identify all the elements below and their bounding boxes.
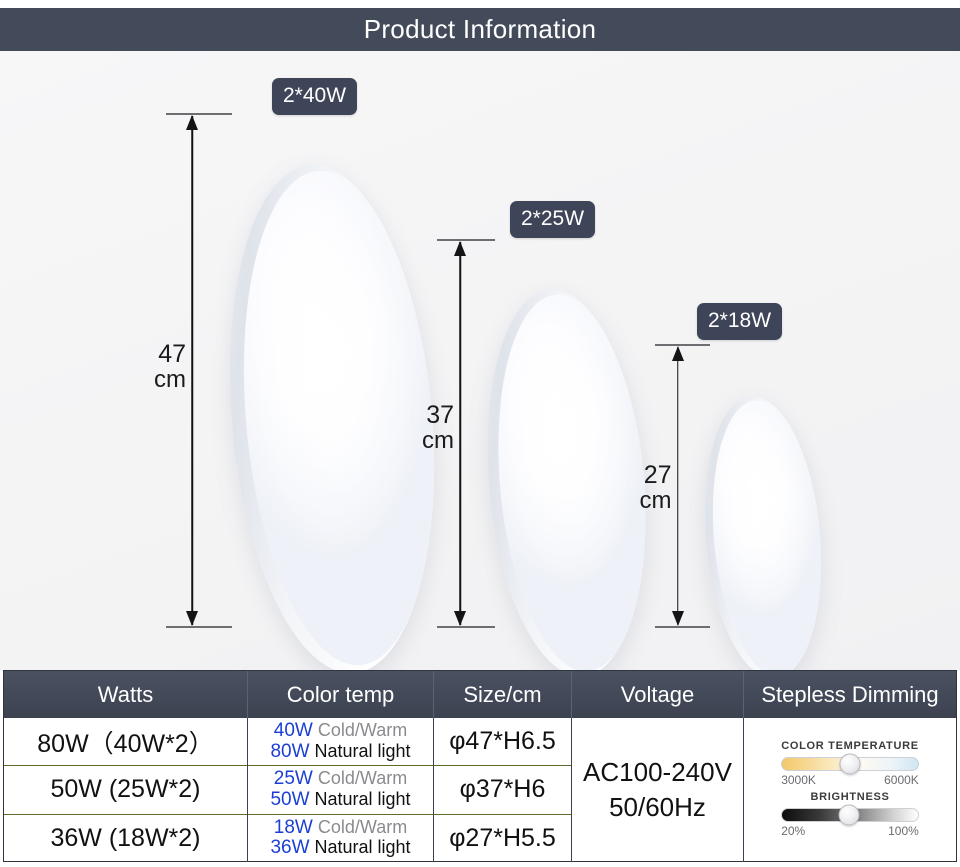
dimension-arrow-down-icon <box>454 611 466 626</box>
dimension-label-small: 27 cm <box>640 462 672 514</box>
cell-dimming: COLOR TEMPERATURE 3000K 6000K BRIGHTNESS <box>744 718 956 862</box>
dimension-value: 27 <box>644 461 672 489</box>
brightness-slider-handle[interactable] <box>838 804 859 825</box>
column-header-stepless-dimming: Stepless Dimming <box>744 671 956 718</box>
color-temperature-title: COLOR TEMPERATURE <box>781 740 919 752</box>
dimension-marker-large: 47 cm <box>152 113 232 628</box>
color-temp-natural: 50W Natural light <box>270 790 410 811</box>
color-temp-natural: 80W Natural light <box>270 742 410 763</box>
dimension-tick-bottom <box>655 626 710 628</box>
lamp-small <box>706 396 820 670</box>
table-row: 50W (25W*2) <box>4 766 247 814</box>
dimension-label-large: 47 cm <box>154 341 186 393</box>
table-row: 40W Cold/Warm 80W Natural light <box>248 718 433 766</box>
column-watts: 80W（40W*2） 50W (25W*2) 36W (18W*2) <box>4 718 248 862</box>
column-size: φ47*H6.5 φ37*H6 φ27*H5.5 <box>434 718 572 862</box>
color-temp-cold-warm: 18W Cold/Warm <box>274 818 407 839</box>
nl-watts: 36W <box>270 838 309 859</box>
brightness-max-label: 100% <box>888 824 919 838</box>
brightness-slider-group: BRIGHTNESS 20% 100% <box>781 791 919 838</box>
dimension-arrow-up-icon <box>186 115 198 130</box>
dimension-value: 37 <box>426 401 454 429</box>
lamp-medium <box>489 289 644 670</box>
table-row: 36W (18W*2) <box>4 815 247 862</box>
nl-label: Natural light <box>315 790 411 809</box>
column-voltage: AC100-240V 50/60Hz <box>572 718 744 862</box>
dimension-tick-top <box>166 113 232 115</box>
column-color-temp: 40W Cold/Warm 80W Natural light 25W Cold… <box>248 718 434 862</box>
cell-size: φ37*H6 <box>460 775 546 804</box>
table-row: φ47*H6.5 <box>434 718 571 766</box>
dimension-arrow-down-icon <box>672 611 684 626</box>
cw-label: Cold/Warm <box>318 721 407 740</box>
badge-lamp-large: 2*40W <box>272 78 357 115</box>
table-row: 80W（40W*2） <box>4 718 247 766</box>
dimension-unit: cm <box>154 367 186 393</box>
table-row: φ27*H5.5 <box>434 815 571 862</box>
cell-size: φ47*H6.5 <box>449 727 556 756</box>
cw-label: Cold/Warm <box>318 818 407 837</box>
cell-watts: 36W (18W*2) <box>50 824 200 853</box>
nl-watts: 50W <box>270 790 309 811</box>
dimension-tick-top <box>437 239 495 241</box>
dimension-marker-small: 27 cm <box>645 344 710 628</box>
specification-table: Watts Color temp Size/cm Voltage Steples… <box>3 670 957 862</box>
color-temperature-min-label: 3000K <box>781 773 816 787</box>
lamp-large <box>232 164 432 670</box>
color-temp-cold-warm: 40W Cold/Warm <box>274 721 407 742</box>
table-row: 25W Cold/Warm 50W Natural light <box>248 766 433 814</box>
cell-voltage: AC100-240V 50/60Hz <box>572 718 743 862</box>
cell-size: φ27*H5.5 <box>449 824 556 853</box>
dimension-shaft <box>191 116 193 625</box>
dimension-unit: cm <box>422 428 454 454</box>
dimension-shaft <box>459 242 461 625</box>
dimension-unit: cm <box>640 488 672 514</box>
dimension-arrow-down-icon <box>186 611 198 626</box>
dimension-value: 47 <box>158 340 186 368</box>
dimension-tick-bottom <box>166 626 232 628</box>
page-title: Product Information <box>364 14 597 45</box>
cw-watts: 18W <box>274 818 313 839</box>
column-header-voltage: Voltage <box>572 671 744 718</box>
dimension-marker-medium: 37 cm <box>425 239 495 628</box>
cw-label: Cold/Warm <box>318 769 407 788</box>
color-temperature-max-label: 6000K <box>884 773 919 787</box>
brightness-title: BRIGHTNESS <box>781 791 919 803</box>
column-header-color-temp: Color temp <box>248 671 434 718</box>
badge-lamp-medium: 2*25W <box>510 201 595 238</box>
dimension-arrow-up-icon <box>672 346 684 361</box>
badge-lamp-small: 2*18W <box>697 303 782 340</box>
table-body: 80W（40W*2） 50W (25W*2) 36W (18W*2) 40W C… <box>4 718 956 862</box>
table-row: φ37*H6 <box>434 766 571 814</box>
color-temp-natural: 36W Natural light <box>270 838 410 859</box>
dimension-shaft <box>677 347 679 625</box>
color-temperature-slider-handle[interactable] <box>840 753 861 774</box>
column-header-watts: Watts <box>4 671 248 718</box>
cell-watts: 50W (25W*2) <box>50 775 200 804</box>
color-temperature-slider[interactable] <box>781 757 919 771</box>
cw-watts: 25W <box>274 769 313 790</box>
nl-label: Natural light <box>315 838 411 857</box>
product-illustration: 2*40W 2*25W 2*18W 47 cm 37 cm 27 <box>0 51 960 670</box>
dimension-tick-bottom <box>437 626 495 628</box>
color-temp-cold-warm: 25W Cold/Warm <box>274 769 407 790</box>
dimension-arrow-up-icon <box>454 241 466 256</box>
cell-watts: 80W（40W*2） <box>37 724 213 760</box>
voltage-line-1: AC100-240V <box>583 755 732 790</box>
cw-watts: 40W <box>274 721 313 742</box>
column-header-size: Size/cm <box>434 671 572 718</box>
table-header-row: Watts Color temp Size/cm Voltage Steples… <box>4 671 956 718</box>
brightness-slider[interactable] <box>781 808 919 822</box>
nl-label: Natural light <box>315 742 411 761</box>
voltage-line-2: 50/60Hz <box>583 790 732 825</box>
table-row: 18W Cold/Warm 36W Natural light <box>248 815 433 862</box>
color-temperature-slider-group: COLOR TEMPERATURE 3000K 6000K <box>781 740 919 787</box>
page-header-bar: Product Information <box>0 8 960 51</box>
nl-watts: 80W <box>270 742 309 763</box>
dimension-label-medium: 37 cm <box>422 402 454 454</box>
brightness-min-label: 20% <box>781 824 805 838</box>
column-stepless-dimming: COLOR TEMPERATURE 3000K 6000K BRIGHTNESS <box>744 718 956 862</box>
